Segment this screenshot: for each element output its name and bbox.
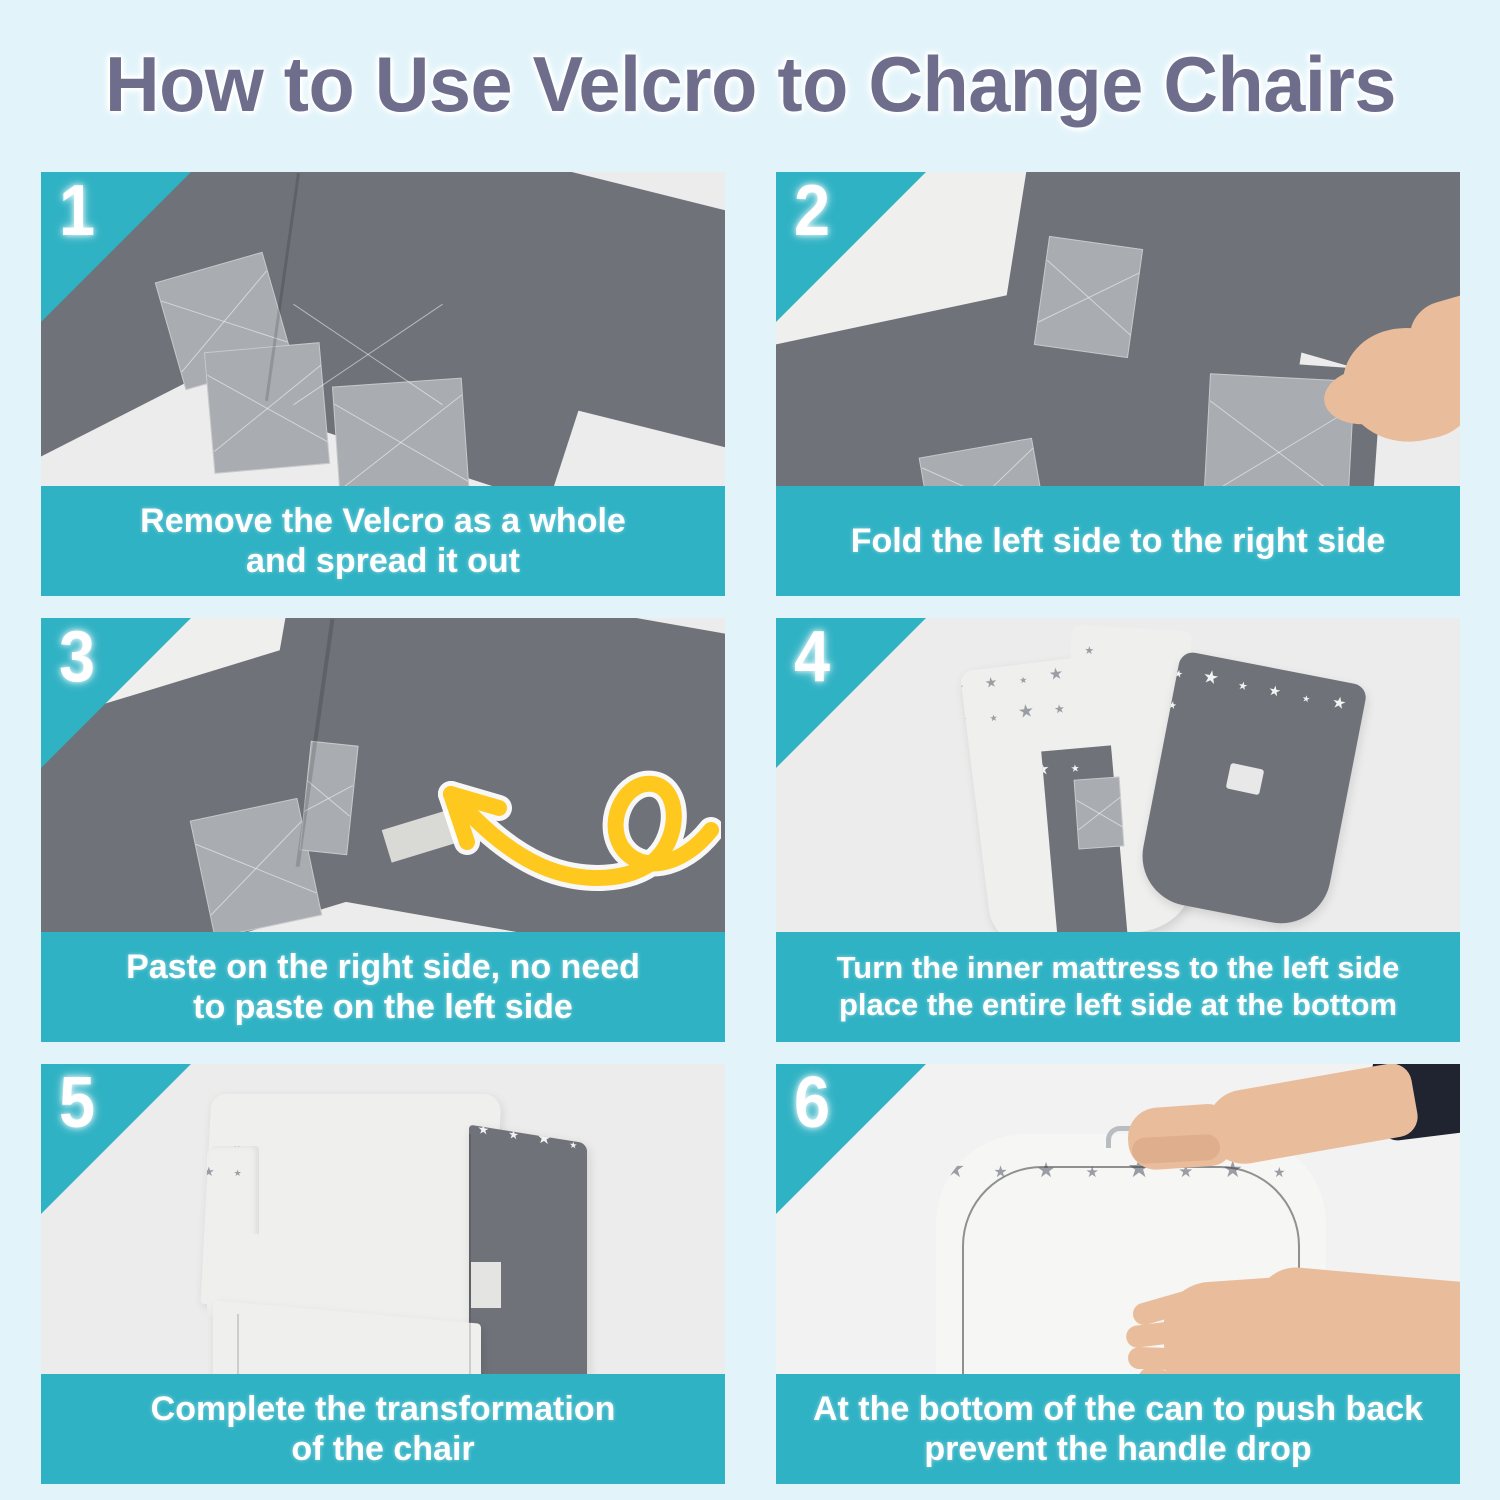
step-panel-3: ★★★★★★★★★★★★ ★★★★★★★★★★ ★★★★★★★★★★★★★★ — [41, 618, 725, 1042]
step-number-badge-5: 5 — [41, 1064, 191, 1214]
step-number: 5 — [59, 1066, 95, 1142]
velcro-patch — [1074, 776, 1125, 849]
step-number: 4 — [794, 620, 830, 696]
star-pattern: ★★★★★★★★★★★★★★★★ — [469, 1125, 587, 1374]
step-panel-6: ★★★★★★★★★★★★★★★★★★★★★★★★★★★★★★★★★★★★★★ — [776, 1064, 1460, 1484]
step-panel-5: ★★★★★★★★★★★★★★★★★★★★★★★★★★ ★★★★★★ ★★★★★★… — [41, 1064, 725, 1484]
steps-grid: ★★★★★★★★★★★★ ★★★★★★★★★★★★ ★★★★★★★★★★ — [41, 172, 1460, 1480]
step-photo-4: ★★★★★★★★★★★★★★★★★★★★★★★★★★★★★★★★★★ ★★★★★… — [776, 618, 1460, 932]
fingers-on-handle — [1131, 1134, 1220, 1165]
step-panel-1: ★★★★★★★★★★★★ ★★★★★★★★★★★★ ★★★★★★★★★★ — [41, 172, 725, 596]
step-panel-4: ★★★★★★★★★★★★★★★★★★★★★★★★★★★★★★★★★★ ★★★★★… — [776, 618, 1460, 1042]
badge-triangle — [776, 1064, 926, 1214]
step-photo-2: ★★★★★★★★★★★★★★ ★★★★★★★★★★ ★★★★★★★★★★★★ ★… — [776, 172, 1460, 486]
step-photo-1: ★★★★★★★★★★★★ ★★★★★★★★★★★★ ★★★★★★★★★★ — [41, 172, 725, 486]
step-photo-3: ★★★★★★★★★★★★ ★★★★★★★★★★ ★★★★★★★★★★★★★★ — [41, 618, 725, 932]
step-caption-3: Paste on the right side, no need to past… — [41, 932, 725, 1042]
page-title: How to Use Velcro to Change Chairs — [104, 39, 1395, 130]
step-caption-4: Turn the inner mattress to the left side… — [776, 932, 1460, 1042]
step-number-badge-4: 4 — [776, 618, 926, 768]
step-caption-1: Remove the Velcro as a whole and spread … — [41, 486, 725, 596]
seam-line — [469, 1134, 471, 1374]
velcro-flap-4 — [293, 304, 443, 404]
badge-triangle — [776, 618, 926, 768]
step-number: 6 — [794, 1066, 830, 1142]
step-panel-2: ★★★★★★★★★★★★★★ ★★★★★★★★★★ ★★★★★★★★★★★★ ★… — [776, 172, 1460, 596]
infographic-root: How to Use Velcro to Change Chairs ★★★★★… — [0, 0, 1500, 1500]
step-number-badge-6: 6 — [776, 1064, 926, 1214]
step-caption-5: Complete the transformation of the chair — [41, 1374, 725, 1484]
brand-label-tag — [471, 1262, 501, 1308]
seam-line — [237, 1314, 239, 1374]
step-photo-5: ★★★★★★★★★★★★★★★★★★★★★★★★★★ ★★★★★★ ★★★★★★… — [41, 1064, 725, 1374]
velcro-flap-1 — [1034, 236, 1143, 358]
badge-triangle — [41, 1064, 191, 1214]
chair-side-right: ★★★★★★★★★★★★★★★★ — [469, 1125, 587, 1374]
step-caption-6: At the bottom of the can to push back pr… — [776, 1374, 1460, 1484]
page-title-container: How to Use Velcro to Change Chairs — [0, 36, 1500, 132]
finger-3 — [1128, 1347, 1207, 1372]
step-caption-2: Fold the left side to the right side — [776, 486, 1460, 596]
step-photo-6: ★★★★★★★★★★★★★★★★★★★★★★★★★★★★★★★★★★★★★★ — [776, 1064, 1460, 1374]
